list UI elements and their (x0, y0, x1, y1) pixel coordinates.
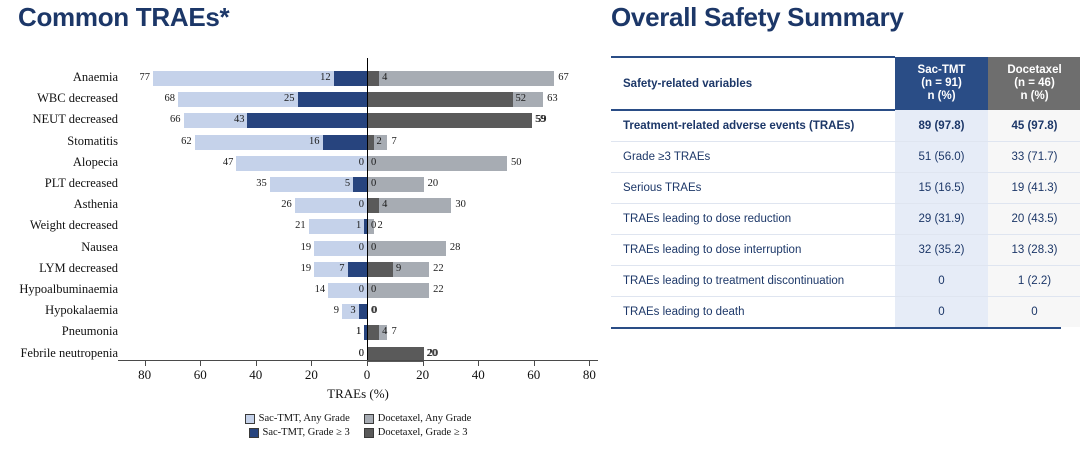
cell-variable: TRAEs leading to dose reduction (611, 204, 895, 235)
value-sac-any-grade: 26 (262, 197, 292, 213)
value-sac-grade3: 1 (331, 324, 361, 340)
col-header-variables: Safety-related variables (611, 57, 895, 110)
x-axis-tick-label: 40 (249, 367, 262, 383)
table-row: TRAEs leading to dose reduction29 (31.9)… (611, 204, 1080, 235)
cell-sac-tmt: 29 (31.9) (895, 204, 988, 235)
cell-sac-tmt: 15 (16.5) (895, 173, 988, 204)
value-docetaxel-any-grade: 7 (391, 134, 396, 150)
x-axis-tick-label: 60 (527, 367, 540, 383)
bar-docetaxel-any-grade (368, 283, 429, 298)
cell-variable: Serious TRAEs (611, 173, 895, 204)
value-sac-any-grade: 77 (120, 70, 150, 86)
bar-docetaxel-any-grade (368, 156, 507, 171)
legend-label: Sac-TMT, Any Grade (259, 412, 350, 426)
bar-docetaxel-grade3 (368, 198, 379, 213)
value-docetaxel-grade3: 0 (371, 155, 376, 171)
x-axis-tick-label: 40 (472, 367, 485, 383)
legend-row: Sac-TMT, Any GradeDocetaxel, Any Grade (118, 412, 598, 426)
x-axis-tick (311, 360, 312, 366)
bar-docetaxel-any-grade (368, 71, 554, 86)
value-docetaxel-any-grade: 20 (428, 176, 439, 192)
col-header-sac-tmt-label: Sac-TMT (897, 64, 986, 77)
value-docetaxel-grade3: 52 (516, 91, 527, 107)
value-docetaxel-any-grade: 28 (450, 240, 461, 256)
value-docetaxel-any-grade: 67 (558, 70, 569, 86)
cell-docetaxel: 0 (988, 297, 1080, 328)
value-sac-grade3: 1 (331, 218, 361, 234)
cell-sac-tmt: 32 (35.2) (895, 235, 988, 266)
table-row: TRAEs leading to dose interruption32 (35… (611, 235, 1080, 266)
chart-category-label: Nausea (81, 240, 118, 254)
cell-docetaxel: 20 (43.5) (988, 204, 1080, 235)
chart-category-label: Hypokalaemia (45, 303, 118, 317)
value-sac-any-grade: 68 (145, 91, 175, 107)
cell-sac-tmt: 89 (97.8) (895, 110, 988, 142)
value-docetaxel-grade3: 0 (371, 240, 376, 256)
legend-item[interactable]: Docetaxel, Any Grade (364, 412, 472, 426)
x-axis-tick (589, 360, 590, 366)
bar-docetaxel-grade3 (368, 325, 379, 340)
bar-sac-grade3 (334, 71, 367, 86)
cell-variable: TRAEs leading to dose interruption (611, 235, 895, 266)
table-bottom-rule (611, 327, 1061, 329)
value-docetaxel-grade3: 0 (371, 218, 376, 234)
cell-variable: TRAEs leading to treatment discontinuati… (611, 266, 895, 297)
chart-bar-row: 355020 (118, 174, 598, 195)
bar-docetaxel-any-grade (368, 177, 424, 192)
x-axis-tick (478, 360, 479, 366)
value-sac-any-grade: 62 (162, 134, 192, 150)
col-header-sac-tmt-n: (n = 91) (897, 77, 986, 90)
cell-variable: Grade ≥3 TRAEs (611, 142, 895, 173)
value-docetaxel-grade3: 4 (382, 324, 387, 340)
value-docetaxel-grade3: 0 (371, 176, 376, 192)
bar-sac-grade3 (323, 135, 367, 150)
x-axis-title: TRAEs (%) (118, 386, 598, 402)
chart-category-labels: AnaemiaWBC decreasedNEUT decreasedStomat… (0, 60, 118, 360)
table-title: Overall Safety Summary (611, 2, 904, 33)
col-header-docetaxel: Docetaxel (n = 46) n (%) (988, 57, 1080, 110)
value-docetaxel-any-grade: 7 (391, 324, 396, 340)
safety-table: Safety-related variables Sac-TMT (n = 91… (611, 56, 1080, 327)
chart-bar-row: 197922 (118, 259, 598, 280)
x-axis-tick-label: 60 (194, 367, 207, 383)
overall-safety-summary-table: Safety-related variables Sac-TMT (n = 91… (611, 56, 1061, 329)
cell-sac-tmt: 51 (56.0) (895, 142, 988, 173)
chart-category-label: NEUT decreased (33, 112, 119, 126)
value-sac-any-grade: 66 (151, 112, 181, 128)
legend-swatch-icon (364, 428, 374, 438)
bar-sac-grade3 (359, 304, 367, 319)
col-header-docetaxel-n: (n = 46) (990, 77, 1079, 90)
value-docetaxel-grade3: 4 (382, 70, 387, 86)
value-sac-any-grade: 14 (295, 282, 325, 298)
chart-bar-row: 21102 (118, 216, 598, 237)
bar-docetaxel-grade3 (368, 113, 532, 128)
value-sac-grade3: 16 (290, 134, 320, 150)
x-axis-tick-label: 0 (364, 367, 371, 383)
legend-item[interactable]: Docetaxel, Grade ≥ 3 (364, 426, 468, 440)
x-axis-line (118, 360, 598, 361)
bar-docetaxel-grade3 (368, 71, 379, 86)
x-axis-tick-label: 20 (416, 367, 429, 383)
value-sac-any-grade: 35 (237, 176, 267, 192)
chart-bar-row: 621627 (118, 132, 598, 153)
value-sac-any-grade: 19 (281, 240, 311, 256)
cell-docetaxel: 19 (41.3) (988, 173, 1080, 204)
x-axis-tick (256, 360, 257, 366)
chart-category-label: Weight decreased (30, 218, 118, 232)
chart-bar-row: 7712467 (118, 68, 598, 89)
chart-bar-row: 140022 (118, 280, 598, 301)
bar-docetaxel-any-grade (368, 241, 446, 256)
cell-docetaxel: 33 (71.7) (988, 142, 1080, 173)
value-sac-grade3: 3 (326, 303, 356, 319)
x-axis-tick-label: 80 (138, 367, 151, 383)
value-sac-grade3: 0 (334, 197, 364, 213)
chart-bar-row: 68255263 (118, 89, 598, 110)
chart-category-label: Asthenia (74, 197, 118, 211)
chart-category-label: Pneumonia (62, 324, 118, 338)
chart-category-label: Hypoalbuminaemia (19, 282, 118, 296)
x-axis-tick-label: 80 (583, 367, 596, 383)
table-row: Serious TRAEs15 (16.5)19 (41.3) (611, 173, 1080, 204)
col-header-sac-tmt: Sac-TMT (n = 91) n (%) (895, 57, 988, 110)
legend-swatch-icon (245, 414, 255, 424)
bar-sac-grade3 (364, 219, 367, 234)
value-sac-any-grade: 21 (276, 218, 306, 234)
chart-bar-row: 1147 (118, 322, 598, 343)
chart-category-label: Febrile neutropenia (20, 346, 118, 360)
cell-sac-tmt: 0 (895, 297, 988, 328)
value-docetaxel-grade3: 2 (377, 134, 382, 150)
cell-docetaxel: 45 (97.8) (988, 110, 1080, 142)
chart-legend: Sac-TMT, Any GradeDocetaxel, Any GradeSa… (118, 412, 598, 440)
table-body: Treatment-related adverse events (TRAEs)… (611, 110, 1080, 327)
cell-docetaxel: 13 (28.3) (988, 235, 1080, 266)
cell-variable: Treatment-related adverse events (TRAEs) (611, 110, 895, 142)
bar-docetaxel-grade3 (368, 135, 374, 150)
legend-label: Sac-TMT, Grade ≥ 3 (263, 426, 350, 440)
chart-category-label: Stomatitis (67, 134, 118, 148)
value-sac-grade3: 7 (315, 261, 345, 277)
chart-category-label: Anaemia (73, 70, 118, 84)
value-docetaxel-any-grade: 30 (455, 197, 466, 213)
value-sac-grade3: 0 (334, 282, 364, 298)
value-sac-grade3: 43 (214, 112, 244, 128)
table-row: TRAEs leading to treatment discontinuati… (611, 266, 1080, 297)
common-traes-chart: AnaemiaWBC decreasedNEUT decreasedStomat… (0, 60, 600, 458)
chart-category-label: LYM decreased (39, 261, 118, 275)
chart-bar-row: 190028 (118, 238, 598, 259)
chart-bar-row: 470050 (118, 153, 598, 174)
chart-category-label: WBC decreased (37, 91, 118, 105)
col-header-sac-tmt-npct: n (%) (897, 90, 986, 103)
chart-bar-row: 9300 (118, 301, 598, 322)
value-docetaxel-any-grade: 50 (511, 155, 522, 171)
chart-category-label: PLT decreased (45, 176, 118, 190)
x-axis-tick (145, 360, 146, 366)
legend-label: Docetaxel, Any Grade (378, 412, 472, 426)
value-sac-grade3: 5 (320, 176, 350, 192)
table-row: Grade ≥3 TRAEs51 (56.0)33 (71.7) (611, 142, 1080, 173)
value-docetaxel-grade3: 4 (382, 197, 387, 213)
cell-sac-tmt: 0 (895, 266, 988, 297)
table-row: TRAEs leading to death00 (611, 297, 1080, 328)
chart-bar-row: 66435959 (118, 110, 598, 131)
cell-variable: TRAEs leading to death (611, 297, 895, 328)
value-docetaxel-grade3: 0 (371, 282, 376, 298)
x-axis-tick-label: 20 (305, 367, 318, 383)
bar-docetaxel-any-grade (368, 198, 451, 213)
table-head: Safety-related variables Sac-TMT (n = 91… (611, 57, 1080, 110)
value-docetaxel-any-grade: 59 (536, 112, 547, 128)
value-docetaxel-any-grade: 22 (433, 282, 444, 298)
legend-item[interactable]: Sac-TMT, Grade ≥ 3 (249, 426, 350, 440)
legend-item[interactable]: Sac-TMT, Any Grade (245, 412, 350, 426)
chart-title: Common TRAEs* (18, 2, 229, 33)
chart-plot-area: 7712467682552636643595962162747005035502… (118, 60, 598, 360)
chart-category-label: Alopecia (73, 155, 118, 169)
x-axis-tick (423, 360, 424, 366)
bar-sac-grade3 (298, 92, 368, 107)
bar-docetaxel-grade3 (368, 262, 393, 277)
bar-sac-grade3 (247, 113, 367, 128)
x-axis-tick (200, 360, 201, 366)
col-header-docetaxel-npct: n (%) (990, 90, 1079, 103)
legend-swatch-icon (249, 428, 259, 438)
cell-docetaxel: 1 (2.2) (988, 266, 1080, 297)
value-docetaxel-grade3: 9 (396, 261, 401, 277)
col-header-docetaxel-label: Docetaxel (990, 64, 1079, 77)
bar-sac-grade3 (364, 325, 367, 340)
value-docetaxel-any-grade: 0 (372, 303, 377, 319)
table-row: Treatment-related adverse events (TRAEs)… (611, 110, 1080, 142)
value-sac-grade3: 0 (334, 240, 364, 256)
value-sac-grade3: 25 (265, 91, 295, 107)
value-sac-any-grade: 19 (281, 261, 311, 277)
value-docetaxel-any-grade: 2 (378, 218, 383, 234)
bar-docetaxel-grade3 (368, 92, 513, 107)
bar-sac-grade3 (353, 177, 367, 192)
x-axis-tick (534, 360, 535, 366)
value-sac-grade3: 12 (301, 70, 331, 86)
legend-row: Sac-TMT, Grade ≥ 3Docetaxel, Grade ≥ 3 (118, 426, 598, 440)
table-header-row: Safety-related variables Sac-TMT (n = 91… (611, 57, 1080, 110)
legend-label: Docetaxel, Grade ≥ 3 (378, 426, 468, 440)
value-docetaxel-any-grade: 22 (433, 261, 444, 277)
chart-bar-row: 260430 (118, 195, 598, 216)
x-axis-tick (367, 360, 368, 366)
legend-swatch-icon (364, 414, 374, 424)
value-sac-any-grade: 47 (203, 155, 233, 171)
value-docetaxel-any-grade: 63 (547, 91, 558, 107)
bar-sac-grade3 (348, 262, 367, 277)
value-sac-grade3: 0 (334, 155, 364, 171)
